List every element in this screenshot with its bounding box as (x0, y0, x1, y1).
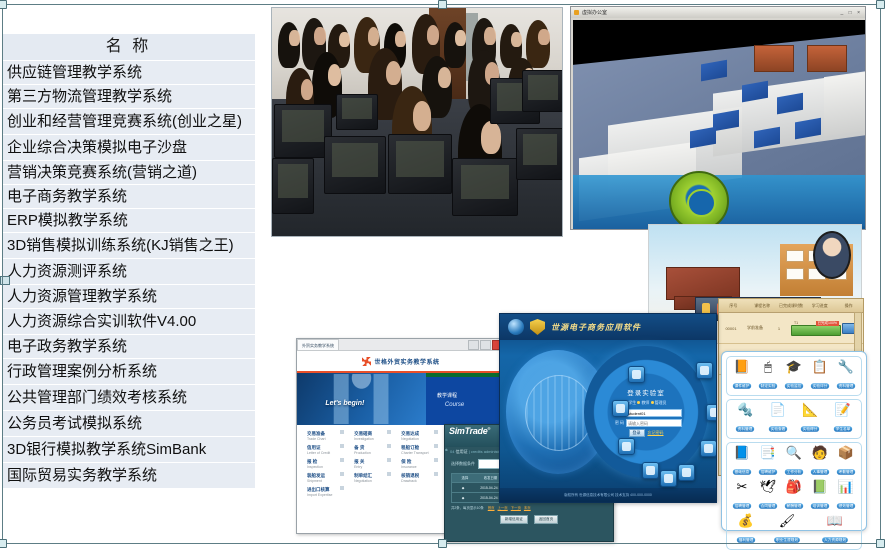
menu-item[interactable]: 📊绩效管理 (833, 480, 859, 512)
simtrade-footer-buttons[interactable]: 新增信用证返回首页 (445, 515, 613, 524)
menu-item-label: 学生名单 (834, 426, 852, 432)
menu-item[interactable]: 🔧资料管理 (833, 360, 859, 392)
menu-item-icon: ✂ (729, 480, 755, 494)
menu-item-label: 实验评分 (811, 383, 829, 389)
table-row[interactable]: 电子政务教学系统 (2, 335, 255, 359)
module-menu-card[interactable]: 📙课件维护🖱制定实验🎓实验监控📋实验评分🔧资料管理🔩资料管理📄实验查看📐实验得分… (721, 351, 867, 531)
step-label-en: Negotiation (354, 479, 397, 483)
banner-course-block[interactable]: 教学课程 Course (426, 373, 505, 425)
datawin-column-header: 已完成课时数 (777, 299, 806, 312)
simtrade-logo: SimTrade® (449, 426, 490, 436)
trade-step-item[interactable]: 报 检Inspection (307, 459, 350, 469)
3d-hud-bar[interactable] (573, 175, 865, 229)
minimize-icon[interactable] (468, 340, 479, 350)
menu-item-icon: 📋 (807, 360, 833, 374)
virtual-office-3d-window[interactable]: 虚拟办公室 _ □ × (570, 6, 866, 230)
field-label: 密 码 (610, 420, 624, 426)
menu-item[interactable]: 📐实验得分 (797, 403, 823, 435)
cell-no: 00001 (719, 326, 743, 331)
menu-item-icon: 📘 (729, 446, 755, 460)
table-body: 供应链管理教学系统第三方物流管理教学系统创业和经营管理竞赛系统(创业之星)企业综… (2, 61, 255, 489)
table-row[interactable]: 电子商务教学系统 (2, 185, 255, 209)
photo-face (413, 101, 431, 130)
menu-item-label: 培训管理 (811, 503, 829, 509)
trade-step-item[interactable]: 备 货Production (354, 445, 397, 455)
menu-item[interactable]: 📘基础信息 (729, 446, 755, 478)
trade-step-item[interactable]: 制单结汇Negotiation (354, 473, 397, 483)
search-icon[interactable] (706, 404, 717, 421)
resize-handle-bc[interactable] (438, 539, 447, 548)
menu-item-icon: 📐 (797, 403, 823, 417)
window-controls[interactable]: _ □ × (841, 10, 863, 16)
login-button[interactable]: 登录 (629, 429, 645, 437)
window-title: 虚拟办公室 (582, 9, 607, 16)
system-name-table: 名 称 供应链管理教学系统第三方物流管理教学系统创业和经营管理竞赛系统(创业之星… (2, 34, 255, 494)
step-label-en: Inspection (307, 465, 350, 469)
login-actions[interactable]: 登录 忘记密码 (610, 429, 682, 437)
table-row[interactable]: 行政管理案例分析系统 (2, 359, 255, 385)
menu-item[interactable]: 🧑人事管理 (807, 446, 833, 478)
menu-item[interactable]: 📝学生名单 (830, 403, 856, 435)
user-icon[interactable] (660, 470, 677, 487)
menu-item-icon: 📑 (755, 446, 781, 460)
menu-item-label: 薪酬管理 (785, 503, 803, 509)
banner-figure (320, 374, 403, 424)
photo-monitor (522, 70, 562, 112)
photo-face (455, 30, 465, 46)
resize-handle-tc[interactable] (438, 0, 447, 9)
photo-face (314, 27, 325, 45)
menu-item[interactable]: 📗培训管理 (807, 480, 833, 512)
trade-step-item[interactable]: 报 关Entry (354, 459, 397, 469)
datawin-column-header: 操作 (834, 299, 863, 312)
ecommerce-titlebar: 世源电子商务应用软件 (500, 314, 716, 340)
table-row[interactable]: 人力资源管理教学系统 (2, 285, 255, 309)
photo-face (289, 30, 299, 46)
menu-item-icon: 📙 (729, 360, 755, 374)
menu-item-icon: 📖 (815, 514, 855, 528)
step-label-en: Negotiation (401, 437, 444, 441)
menu-item-label: 招聘管理 (733, 503, 751, 509)
step-icon (340, 430, 344, 434)
photo-monitor (272, 158, 314, 214)
step-label-en: Charter Transport (401, 451, 444, 455)
menu-item-icon: 🔩 (732, 403, 758, 417)
table-row[interactable]: 3D销售模拟训练系统(KJ销售之王) (2, 233, 255, 259)
photo-face (368, 27, 380, 46)
menu-group: 🔩资料管理📄实验查看📐实验得分📝学生名单 (726, 399, 862, 439)
menu-item-label: 实验查看 (769, 426, 787, 432)
trade-step-item[interactable]: 租船订舱Charter Transport (401, 445, 444, 455)
maximize-icon[interactable] (480, 340, 491, 350)
window-titlebar: 虚拟办公室 _ □ × (571, 7, 865, 18)
password-input[interactable] (626, 419, 682, 427)
step-icon (387, 430, 391, 434)
ecommerce-title: 世源电子商务应用软件 (551, 322, 641, 333)
radio-dot-icon (651, 401, 654, 404)
cart-icon[interactable] (700, 440, 717, 457)
table-row[interactable]: 人力资源综合实训软件V4.00 (2, 309, 255, 335)
role-radio[interactable]: 管理员 (651, 400, 668, 405)
table-row[interactable]: 营销决策竞赛系统(营销之道) (2, 161, 255, 185)
trade-step-grid: 交易准备Trade Chart交易磋商Investigation交易达成Nego… (297, 425, 444, 534)
shield-icon (530, 319, 545, 335)
menu-item[interactable]: 💰福利管理 (733, 514, 759, 546)
menu-item[interactable]: 🔍工作分析 (781, 446, 807, 478)
resize-handle-bl[interactable] (0, 539, 7, 548)
pagination-link[interactable]: 末页 (524, 506, 531, 510)
table-row[interactable]: 供应链管理教学系统 (2, 61, 255, 85)
role-radio[interactable]: 教师 (637, 400, 650, 405)
menu-item[interactable]: 📖人力资源规划 (815, 514, 855, 546)
navigation-wheel-control[interactable] (669, 171, 729, 229)
photo-face (427, 25, 440, 45)
ecommerce-main: 登录实验室 学生 教师 管理员 用户名密 码 登录 忘记密码 (500, 340, 716, 488)
step-label-en: Production (354, 451, 397, 455)
menu-item-icon: 📝 (830, 403, 856, 417)
menu-item[interactable]: 🖌职业生涯规划 (767, 514, 807, 546)
simtrade-action-button[interactable]: 新增信用证 (500, 515, 528, 524)
table-row[interactable]: 公务员考试模拟系统 (2, 411, 255, 437)
banner-slogan: Let's begin! (325, 400, 364, 407)
mail-icon[interactable] (612, 400, 629, 417)
photo-monitor (452, 158, 518, 216)
login-ring: 登录实验室 学生 教师 管理员 用户名密 码 登录 忘记密码 (584, 346, 708, 478)
table-row[interactable]: 公共管理部门绩效考核系统 (2, 385, 255, 411)
trade-step-item[interactable]: 进出口核算Import Expertise (307, 487, 350, 497)
step-icon (340, 458, 344, 462)
trade-step-item[interactable]: 交易达成Negotiation (401, 431, 444, 441)
step-label-en: Drawback (401, 479, 444, 483)
key-icon[interactable] (642, 462, 659, 479)
datawin-column-header: 学习进度 (805, 299, 834, 312)
menu-item-label: 人事管理 (811, 469, 829, 475)
menu-item[interactable]: 🕊合同管理 (755, 480, 781, 512)
menu-item-label: 制定实验 (759, 383, 777, 389)
cell-course: 学前准备 (743, 325, 767, 331)
photo-face (511, 32, 521, 47)
brand-area: 世格外贸实务教学系统 (297, 351, 505, 371)
hero-banner: Let's begin! 教学课程 Course (297, 373, 505, 425)
photo-face (339, 32, 349, 47)
tab-trade-system[interactable]: 外贸实务教学系统 (297, 339, 339, 350)
selection-anchor-handle[interactable] (0, 276, 10, 285)
menu-item-icon: 🎒 (781, 480, 807, 494)
3d-door-left (754, 45, 794, 72)
photo-face (328, 64, 342, 86)
course-label-en: Course (445, 402, 464, 408)
table-row[interactable]: 人力资源测评系统 (2, 259, 255, 285)
step-label-en: Letter of Credit (307, 451, 350, 455)
ecommerce-app-window[interactable]: 世源电子商务应用软件 登录实验室 学生 教师 管理员 用户名密 码 登录 忘记密… (499, 313, 717, 503)
step-label-en: Shipment (307, 479, 350, 483)
menu-item-icon: 📊 (833, 480, 859, 494)
photo-monitor (388, 134, 452, 194)
globe-icon (508, 319, 524, 335)
photo-face (438, 67, 452, 88)
menu-item[interactable]: ✂招聘管理 (729, 480, 755, 512)
menu-item-label: 资料管理 (837, 383, 855, 389)
trade-step-item[interactable]: 交易准备Trade Chart (307, 431, 350, 441)
pagination-link[interactable]: 上一页 (498, 506, 508, 510)
menu-item[interactable]: 🎒薪酬管理 (781, 480, 807, 512)
datawin-row[interactable]: 00001学前准备1T1已完成100% (719, 313, 863, 344)
pagination-link[interactable]: 下一页 (511, 506, 521, 510)
photo-face (481, 121, 501, 154)
menu-item-label: 绩效管理 (837, 503, 855, 509)
copyright-text: 版权所有 世源信息技术有限公司 技术支持 400-000-0000 (564, 493, 652, 498)
menu-item-label: 资料管理 (736, 426, 754, 432)
filter-label: 选择数据条件 (451, 461, 475, 467)
3d-viewport[interactable] (573, 20, 865, 229)
step-label-en: Insurance (401, 465, 444, 469)
menu-item-label: 工作分析 (785, 469, 803, 475)
row-checkbox[interactable]: ◆ (452, 486, 474, 490)
step-icon (434, 444, 438, 448)
menu-item-icon: 📗 (807, 480, 833, 494)
step-icon (434, 458, 438, 462)
resize-handle-br[interactable] (876, 539, 885, 548)
menu-item-label: 实验监控 (785, 383, 803, 389)
datawin-header-row: 序号课程名称已完成课时数学习进度操作 (719, 299, 863, 313)
photo-face (538, 29, 549, 45)
3d-door-right (807, 45, 847, 72)
brand-title: 世格外贸实务教学系统 (374, 357, 439, 366)
menu-group: 📙课件维护🖱制定实验🎓实验监控📋实验评分🔧资料管理 (726, 356, 862, 396)
trash-icon[interactable] (678, 464, 695, 481)
flower-logo-icon (362, 357, 371, 366)
trade-step-item[interactable]: 信用证Letter of Credit (307, 445, 350, 455)
menu-item[interactable]: 📋实验评分 (807, 360, 833, 392)
window-tabbar: 外贸实务教学系统 (297, 339, 505, 351)
login-title: 登录实验室 (610, 387, 682, 397)
table-row[interactable]: 第三方物流管理教学系统 (2, 85, 255, 109)
menu-item-icon: 🕊 (755, 480, 781, 494)
photo-monitor (336, 94, 378, 130)
menu-item-icon: 📄 (765, 403, 791, 417)
menu-item-label: 合同管理 (759, 503, 777, 509)
menu-item-icon: 🖱 (755, 360, 781, 374)
menu-item-label: 职业生涯规划 (774, 537, 800, 543)
folder-icon[interactable] (628, 366, 645, 383)
menu-item[interactable]: 🎓实验监控 (781, 360, 807, 392)
step-icon (434, 430, 438, 434)
table-header-name: 名 称 (2, 34, 255, 61)
step-icon (387, 444, 391, 448)
step-label-en: Trade Chart (307, 437, 350, 441)
trade-step-item[interactable]: 装船发运Shipment (307, 473, 350, 483)
menu-item[interactable]: 📙课件维护 (729, 360, 755, 392)
computer-lab-photo (272, 8, 562, 236)
resize-handle-tr[interactable] (876, 0, 885, 9)
step-label-en: Import Expertise (307, 493, 350, 497)
pagination-info: 共2条，每页显示10条 (451, 506, 484, 510)
datawin-column-header: 课程名称 (748, 299, 777, 312)
menu-item-icon: 🎓 (781, 360, 807, 374)
menu-item-label: 课件维护 (733, 383, 751, 389)
menu-item-label: 考勤管理 (837, 469, 855, 475)
step-icon (387, 458, 391, 462)
course-label-cn: 教学课程 (437, 392, 457, 399)
menu-item-label: 实验得分 (801, 426, 819, 432)
menu-item[interactable]: 📄实验查看 (765, 403, 791, 435)
app-icon (574, 10, 579, 15)
photo-face (484, 27, 495, 45)
cell-hours: 1 (767, 326, 791, 331)
menu-item-icon: 📦 (833, 446, 859, 460)
pagination-links[interactable]: 首页上一页下一页末页 (485, 506, 531, 510)
pagination-link[interactable]: 首页 (488, 506, 495, 510)
step-icon (340, 444, 344, 448)
step-icon (340, 486, 344, 490)
login-field-row[interactable]: 密 码 (610, 419, 682, 427)
row-checkbox[interactable]: ◆ (452, 496, 474, 500)
datawin-column-header: 序号 (719, 299, 748, 312)
step-label-en: Investigation (354, 437, 397, 441)
menu-item-icon: 🧑 (807, 446, 833, 460)
step-icon (434, 472, 438, 476)
menu-item[interactable]: 📦考勤管理 (833, 446, 859, 478)
menu-item[interactable]: 🔩资料管理 (732, 403, 758, 435)
progress-bar (791, 325, 841, 336)
menu-item-label: 基础信息 (733, 469, 751, 475)
step-label-en: Entry (354, 465, 397, 469)
simtrade-column-header: 选择 (452, 474, 478, 482)
menu-group: 📘基础信息📑招聘维护🔍工作分析🧑人事管理📦考勤管理✂招聘管理🕊合同管理🎒薪酬管理… (726, 442, 862, 550)
table-row[interactable]: 国际贸易实务教学系统 (2, 463, 255, 489)
menu-item-icon: 🔍 (781, 446, 807, 460)
photo-monitor (516, 128, 562, 180)
radio-dot-icon (637, 401, 640, 404)
table-row[interactable]: ERP模拟教学系统 (2, 209, 255, 233)
step-icon (387, 472, 391, 476)
reset-password-link[interactable]: 忘记密码 (648, 430, 664, 436)
photo-face (386, 61, 402, 85)
photo-face (395, 31, 405, 47)
resize-handle-tl[interactable] (0, 0, 7, 9)
pagination[interactable]: 共2条，每页显示10条 首页上一页下一页末页 (445, 503, 613, 512)
table-row[interactable]: 创业和经营管理竞赛系统(创业之星) (2, 109, 255, 135)
ecommerce-footer: 版权所有 世源信息技术有限公司 技术支持 400-000-0000 (500, 488, 716, 502)
step-icon (340, 472, 344, 476)
table-row[interactable]: 企业综合决策模拟电子沙盘 (2, 135, 255, 161)
menu-item-icon: 🖌 (767, 514, 807, 528)
document-icon[interactable] (618, 438, 635, 455)
edit-icon[interactable] (696, 362, 713, 379)
photo-face (301, 79, 314, 100)
menu-item-label: 福利管理 (737, 537, 755, 543)
table-row[interactable]: 3D银行模拟教学系统SimBank (2, 437, 255, 463)
menu-item-label: 人力资源规划 (822, 537, 848, 543)
cell-progress: T1已完成100% (791, 321, 839, 336)
character-portrait (813, 231, 851, 279)
trade-step-item[interactable]: 核销退税Drawback (401, 473, 444, 483)
photo-monitor (324, 136, 386, 194)
trade-step-item[interactable]: 交易磋商Investigation (354, 431, 397, 441)
menu-item-icon: 🔧 (833, 360, 859, 374)
menu-item-label: 招聘维护 (759, 469, 777, 475)
menu-item-icon: 💰 (733, 514, 759, 528)
trade-step-item[interactable]: 保 险Insurance (401, 459, 444, 469)
banner-illustration: Let's begin! (297, 373, 426, 425)
menu-item[interactable]: 🖱制定实验 (755, 360, 781, 392)
menu-item[interactable]: 📑招聘维护 (755, 446, 781, 478)
username-input[interactable] (626, 409, 682, 417)
simtrade-action-button[interactable]: 返回首页 (534, 515, 558, 524)
